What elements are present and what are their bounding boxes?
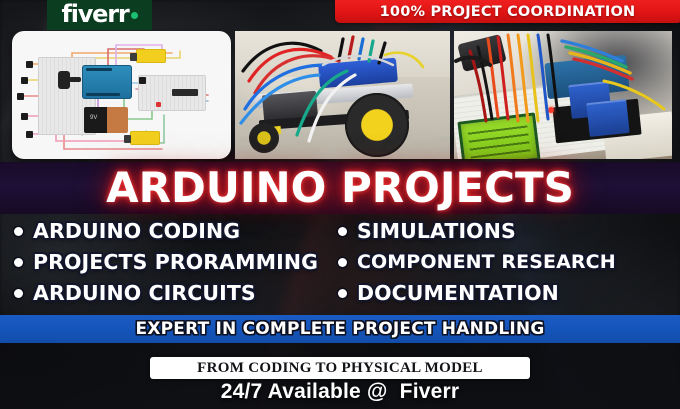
- tagline-label: FROM CODING TO PHYSICAL MODEL: [197, 360, 483, 377]
- dc-motor-graphic-2: [130, 131, 160, 145]
- bullet-dot-icon: [14, 289, 23, 298]
- service-label: ARDUINO CODING: [33, 221, 240, 242]
- terminal-2: [21, 77, 28, 84]
- terminal-5: [26, 131, 33, 138]
- gallery-image-relay-lcd: [454, 31, 672, 159]
- list-item: COMPONENT RESEARCH: [338, 247, 680, 278]
- list-item: DOCUMENTATION: [338, 278, 680, 309]
- chip-marker: [156, 102, 161, 107]
- list-item: ARDUINO CODING: [14, 216, 330, 247]
- service-label: ARDUINO CIRCUITS: [33, 283, 256, 304]
- expertise-banner-label: EXPERT IN COMPLETE PROJECT HANDLING: [136, 319, 545, 339]
- service-label: COMPONENT RESEARCH: [357, 253, 616, 272]
- terminal-6: [139, 77, 146, 84]
- terminal-4: [21, 113, 28, 120]
- relay-jumper-wires: [454, 31, 672, 159]
- fiverr-logo: fiverr: [47, 0, 152, 30]
- service-label: DOCUMENTATION: [357, 283, 559, 304]
- dc-motor-graphic-1: [136, 49, 166, 63]
- bullet-dot-icon: [338, 227, 347, 236]
- availability-line: 24/7 Available @ Fiverr: [0, 380, 680, 404]
- expertise-banner: EXPERT IN COMPLETE PROJECT HANDLING: [0, 315, 680, 343]
- list-item: ARDUINO CIRCUITS: [14, 278, 330, 309]
- gig-thumbnail-canvas: fiverr 100% PROJECT COORDINATION: [0, 0, 680, 409]
- terminal-3: [17, 93, 24, 100]
- ic-chip-graphic: [172, 89, 198, 96]
- bullet-dot-icon: [14, 227, 23, 236]
- robot-car-wires: [235, 31, 450, 159]
- schematic-artwork: [12, 31, 231, 159]
- coordination-banner: 100% PROJECT COORDINATION: [335, 0, 680, 23]
- list-item: SIMULATIONS: [338, 216, 680, 247]
- bullet-dot-icon: [14, 258, 23, 267]
- fiverr-wordmark: fiverr: [61, 2, 128, 26]
- terminal-1: [26, 61, 33, 68]
- arduino-uno-graphic: [82, 65, 132, 99]
- service-label: SIMULATIONS: [357, 221, 516, 242]
- availability-label: 24/7 Available @ Fiverr: [221, 380, 460, 403]
- services-right-column: SIMULATIONS COMPONENT RESEARCH DOCUMENTA…: [330, 216, 680, 314]
- main-title-band: ARDUINO PROJECTS: [0, 162, 680, 214]
- coordination-banner-label: 100% PROJECT COORDINATION: [380, 4, 636, 20]
- bullet-dot-icon: [338, 258, 347, 267]
- services-left-column: ARDUINO CODING PROJECTS PRORAMMING ARDUI…: [0, 216, 330, 314]
- bullet-dot-icon: [338, 289, 347, 298]
- project-gallery: [12, 31, 672, 159]
- list-item: PROJECTS PRORAMMING: [14, 247, 330, 278]
- service-label: PROJECTS PRORAMMING: [33, 252, 318, 273]
- tagline-box: FROM CODING TO PHYSICAL MODEL: [150, 357, 530, 379]
- component-graphic: [58, 71, 70, 89]
- battery-graphic: [84, 107, 128, 133]
- page-title: ARDUINO PROJECTS: [106, 167, 574, 209]
- gallery-image-robot-car: [235, 31, 450, 159]
- gallery-image-circuit-schematic: [12, 31, 231, 159]
- services-list: ARDUINO CODING PROJECTS PRORAMMING ARDUI…: [0, 216, 680, 314]
- fiverr-logo-dot: [131, 12, 138, 19]
